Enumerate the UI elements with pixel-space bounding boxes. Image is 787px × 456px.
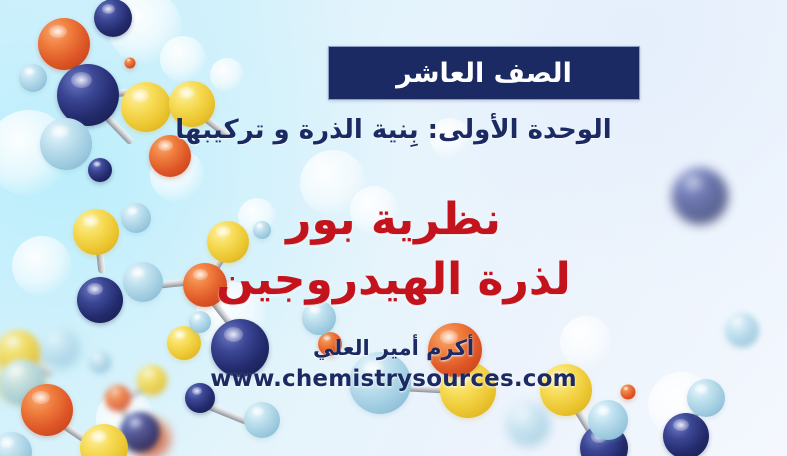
atom-light-blue [19,64,47,92]
grade-banner: الصف العاشر [328,46,640,100]
atom-orange [38,18,90,70]
bond [86,87,160,99]
atom-light-blue [506,402,550,446]
atom-navy [580,424,628,456]
atom-orange-small [125,58,136,69]
unit-title: الوحدة الأولى: بِنية الذرة و تركيبها [0,115,787,145]
bokeh-blob [160,36,206,82]
bond [47,413,87,443]
atom-light-blue [244,402,280,438]
slide-canvas: الصف العاشر الوحدة الأولى: بِنية الذرة و… [0,0,787,456]
main-title-line-1: نظرية بور [0,190,787,250]
grade-banner-label: الصف العاشر [396,60,572,87]
bond [115,400,141,434]
bokeh-blob [210,58,244,92]
atom-light-blue [588,400,628,440]
main-title: نظرية بور لذرة الهيدروجين [0,190,787,310]
bokeh-blob [96,390,154,448]
website-url: www.chemistrysources.com [0,366,787,392]
atom-navy [663,413,709,456]
atom-light-blue [0,432,32,456]
bond [201,400,250,425]
atom-navy-small [88,158,112,182]
atom-light-blue-small [189,311,211,333]
bond [683,395,708,434]
bokeh-blob [108,0,182,64]
author-name: أكرم أمير العلي [0,336,787,360]
atom-orange [130,418,170,456]
atom-yellow [80,424,128,456]
bond [565,394,596,438]
atom-navy [120,412,160,452]
main-title-line-2: لذرة الهيدروجين [0,250,787,310]
atom-navy [94,0,132,37]
